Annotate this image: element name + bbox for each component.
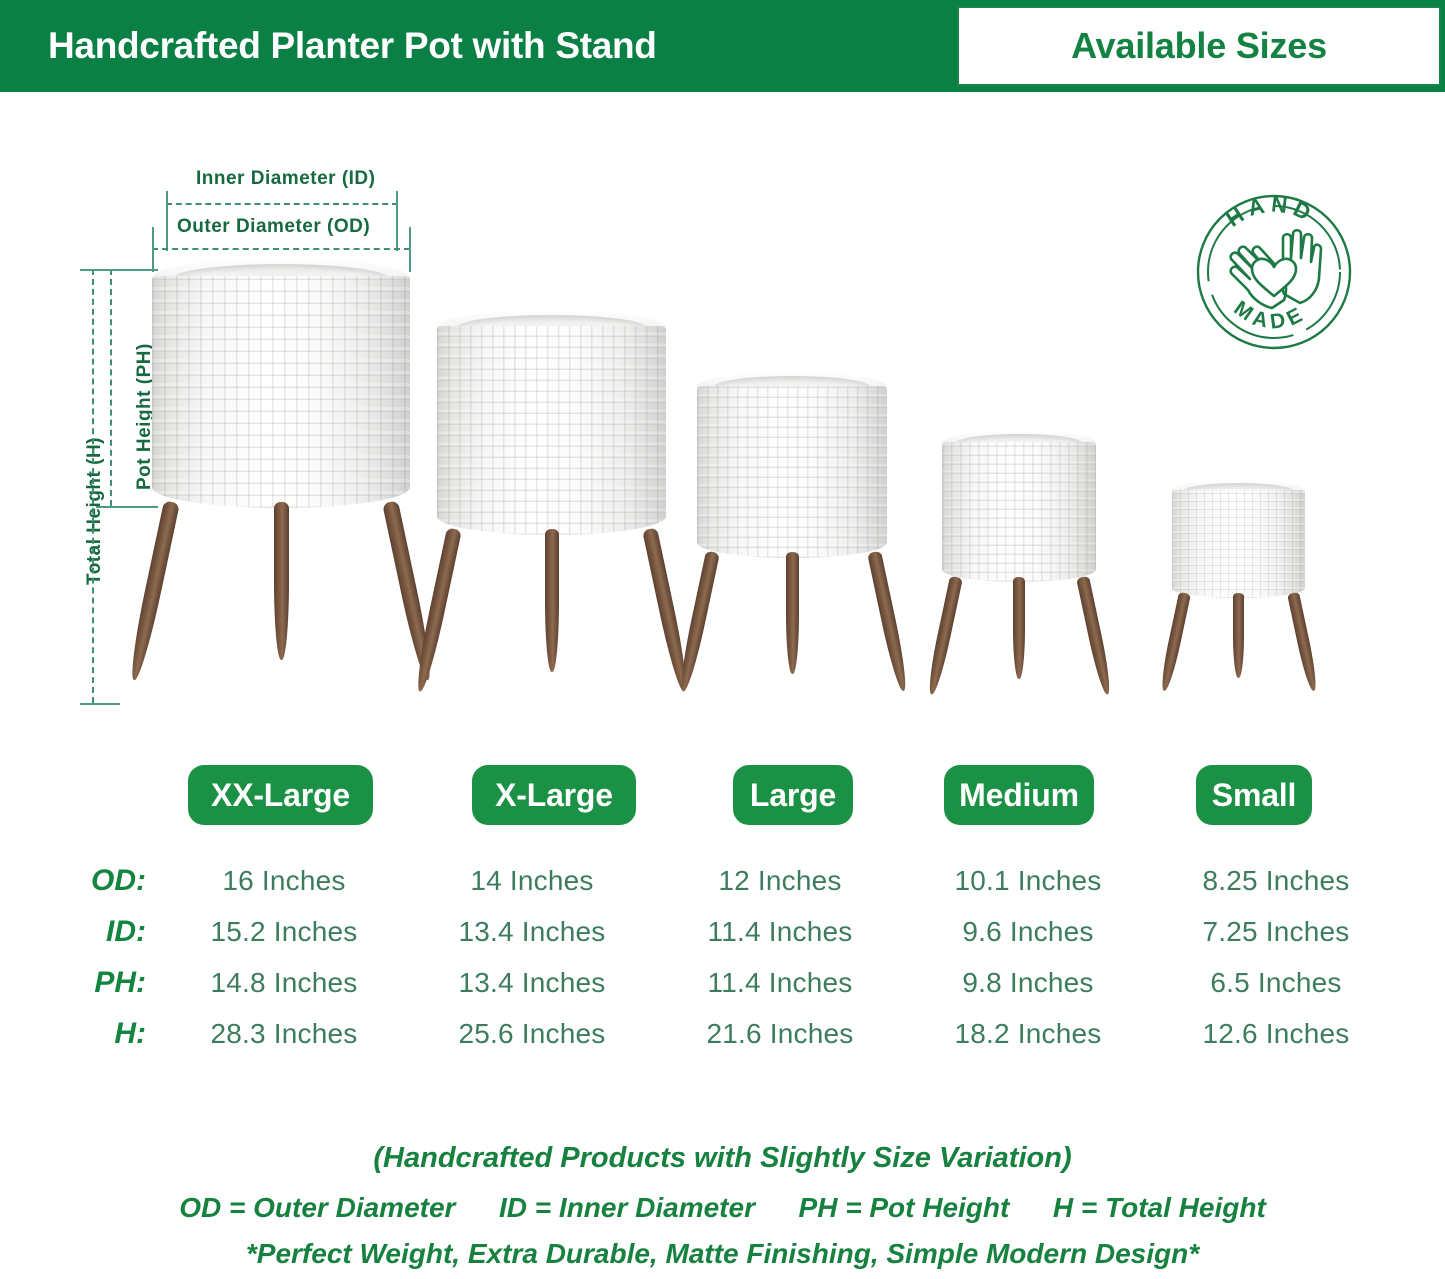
header-bar: Handcrafted Planter Pot with Stand Avail…: [0, 0, 1445, 92]
cell-ph-small: 6.5 Inches: [1152, 967, 1400, 999]
legend-h: H = Total Height: [1053, 1192, 1266, 1224]
row-label-od: OD:: [0, 864, 160, 898]
guide-line-total-height: [92, 269, 94, 703]
pot-body: [1172, 490, 1305, 598]
cell-id-medium: 9.6 Inches: [904, 916, 1152, 948]
pot-body: [437, 326, 666, 535]
planter-xx-large: [152, 258, 410, 706]
handmade-top-text: HAND: [1221, 191, 1319, 231]
stand-leg-left: [677, 551, 720, 693]
stand-leg-left: [126, 500, 179, 681]
guide-tick-h-bottom: [80, 703, 120, 705]
cell-h-x-large: 25.6 Inches: [408, 1018, 656, 1050]
guide-label-inner-diameter: Inner Diameter (ID): [196, 168, 375, 190]
cell-ph-xx-large: 14.8 Inches: [160, 967, 408, 999]
pot-weave-texture: [942, 442, 1096, 582]
pot-weave-texture: [697, 386, 887, 558]
guide-label-total-height: Total Height (H): [84, 437, 106, 585]
size-badge-small[interactable]: Small: [1196, 765, 1312, 825]
cell-h-xx-large: 28.3 Inches: [160, 1018, 408, 1050]
page-title: Handcrafted Planter Pot with Stand: [0, 0, 953, 92]
cell-ph-x-large: 13.4 Inches: [408, 967, 656, 999]
row-label-id: ID:: [0, 915, 160, 949]
table-row: H: 28.3 Inches 25.6 Inches 21.6 Inches 1…: [0, 1008, 1400, 1059]
stand-leg-center: [274, 502, 289, 660]
table-row: OD: 16 Inches 14 Inches 12 Inches 10.1 I…: [0, 855, 1400, 906]
stand-leg-center: [1013, 577, 1025, 679]
stand-leg-center: [786, 552, 799, 674]
stand-leg-left: [925, 576, 963, 696]
table-row: ID: 15.2 Inches 13.4 Inches 11.4 Inches …: [0, 906, 1400, 957]
cell-od-x-large: 14 Inches: [408, 865, 656, 897]
pot-body: [942, 442, 1096, 582]
guide-line-inner-diameter: [166, 203, 398, 205]
cell-h-small: 12.6 Inches: [1152, 1018, 1400, 1050]
cell-ph-large: 11.4 Inches: [656, 967, 904, 999]
cell-id-large: 11.4 Inches: [656, 916, 904, 948]
cell-h-medium: 18.2 Inches: [904, 1018, 1152, 1050]
spec-table: OD: 16 Inches 14 Inches 12 Inches 10.1 I…: [0, 855, 1400, 1059]
handmade-badge: HAND MADE: [1188, 186, 1360, 358]
pot-body: [697, 386, 887, 558]
stand-leg-center: [1233, 593, 1244, 678]
cell-od-large: 12 Inches: [656, 865, 904, 897]
size-badge-xx-large[interactable]: XX-Large: [188, 765, 373, 825]
stand-leg-right: [1076, 576, 1114, 696]
guide-label-outer-diameter: Outer Diameter (OD): [177, 216, 370, 238]
available-sizes-label: Available Sizes: [1071, 25, 1327, 67]
legend-id: ID = Inner Diameter: [499, 1192, 755, 1224]
pot-weave-texture: [152, 276, 410, 508]
cell-id-small: 7.25 Inches: [1152, 916, 1400, 948]
planter-x-large: [437, 310, 666, 706]
guide-tick-h-top: [80, 269, 120, 271]
cell-od-medium: 10.1 Inches: [904, 865, 1152, 897]
available-sizes-panel: Available Sizes: [957, 6, 1441, 86]
guide-tick-id-left: [166, 191, 168, 251]
guide-line-pot-height: [110, 269, 112, 506]
table-row: PH: 14.8 Inches 13.4 Inches 11.4 Inches …: [0, 957, 1400, 1008]
hands-heart-icon: HAND MADE: [1188, 186, 1360, 358]
cell-od-xx-large: 16 Inches: [160, 865, 408, 897]
planter-small: [1172, 480, 1305, 706]
planter-medium: [942, 430, 1096, 706]
cell-ph-medium: 9.8 Inches: [904, 967, 1152, 999]
cell-od-small: 8.25 Inches: [1152, 865, 1400, 897]
pot-weave-texture: [437, 326, 666, 535]
guide-tick-id-right: [396, 191, 398, 251]
pot-body: [152, 276, 410, 508]
stand-leg-center: [545, 529, 559, 672]
stand-leg-left: [1158, 592, 1191, 692]
size-badge-medium[interactable]: Medium: [944, 765, 1094, 825]
guide-line-outer-diameter: [152, 248, 410, 250]
cell-id-xx-large: 15.2 Inches: [160, 916, 408, 948]
row-label-ph: PH:: [0, 966, 160, 1000]
legend-ph: PH = Pot Height: [799, 1192, 1010, 1224]
stand-leg-right: [867, 551, 910, 693]
pot-weave-texture: [1172, 490, 1305, 598]
footer-tagline: *Perfect Weight, Extra Durable, Matte Fi…: [0, 1238, 1445, 1270]
stand-leg-right: [1287, 592, 1320, 692]
legend-od: OD = Outer Diameter: [179, 1192, 455, 1224]
footer-legend: OD = Outer Diameter ID = Inner Diameter …: [0, 1192, 1445, 1224]
size-badge-large[interactable]: Large: [733, 765, 853, 825]
cell-h-large: 21.6 Inches: [656, 1018, 904, 1050]
planter-large: [697, 372, 887, 706]
size-badge-x-large[interactable]: X-Large: [472, 765, 636, 825]
row-label-h: H:: [0, 1017, 160, 1051]
cell-id-x-large: 13.4 Inches: [408, 916, 656, 948]
size-chart-page: Handcrafted Planter Pot with Stand Avail…: [0, 0, 1445, 1279]
footer-variation-note: (Handcrafted Products with Slightly Size…: [0, 1142, 1445, 1175]
